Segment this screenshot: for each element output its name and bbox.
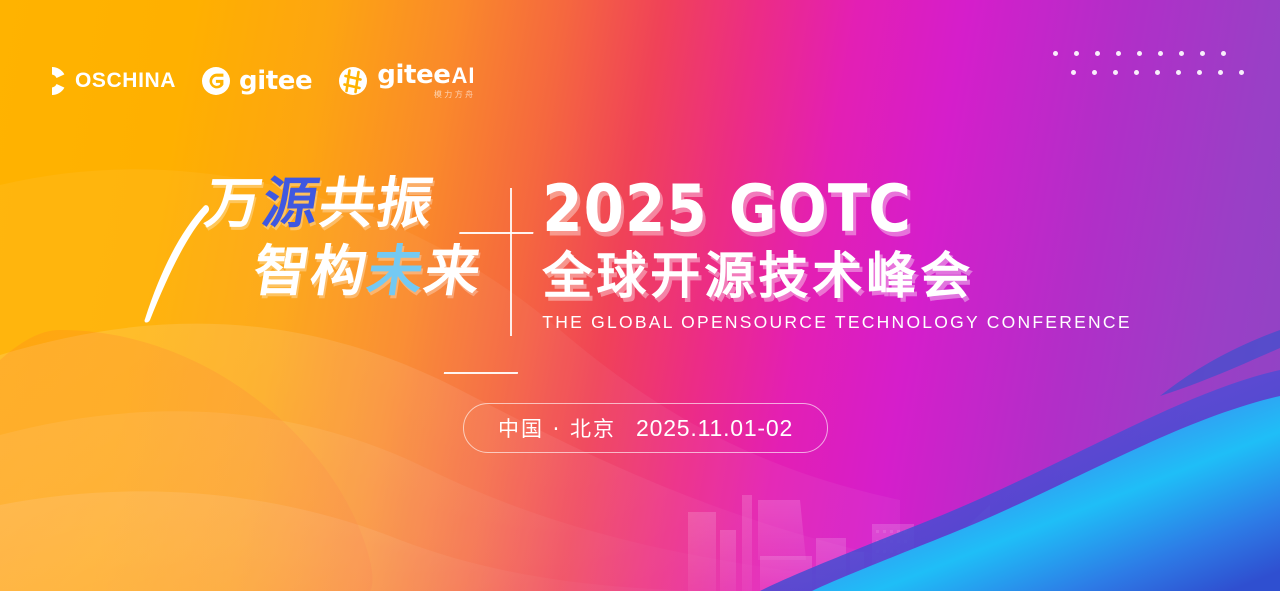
gitee-logo-text: gitee [239,68,312,94]
dot-grid-row [1053,48,1245,59]
slogan-underline-stroke [444,372,518,374]
gitee-ai-logo-text: gitee [377,62,450,88]
oschina-c-mark-icon [38,67,66,95]
event-date-location-badge: 中国 · 北京 2025.11.01-02 [463,403,828,453]
title-divider [510,188,512,336]
swoosh-decoration [142,204,212,324]
oschina-logo-text: OSCHINA [75,70,176,91]
dot-grid-row [1071,67,1245,78]
gitee-logo[interactable]: gitee [202,67,312,95]
conference-title-english: THE GLOBAL OPENSOURCE TECHNOLOGY CONFERE… [542,312,1131,333]
slogan-underline-stroke [459,232,533,234]
slogan-char-group: 来 [421,244,487,299]
slogan-line-1: 万 源 共振 [202,176,487,231]
oschina-logo[interactable]: OSCHINA [38,67,176,95]
main-title-lockup: 万 源 共振 智构 未 来 2025 GOTC 全球开源技术峰会 THE GLO… [0,176,1280,342]
slogan-char-group: 智构 [250,244,373,299]
partner-logo-row: OSCHINA gitee gitee [38,62,476,99]
gitee-ai-logo-textblock: gitee AI 模力方舟 [377,62,475,99]
gitee-g-mark-icon [202,67,230,95]
event-location: 中国 · 北京 [498,413,616,443]
slogan-char-group: 万 [202,176,268,231]
slogan-char-group: 共振 [316,176,439,231]
dot-grid-decoration [1053,48,1245,78]
slogan-char-group-highlight: 源 [259,176,325,231]
gitee-ai-globe-mark-icon [338,66,368,96]
slogan-line-2: 智构 未 来 [250,244,487,299]
gotc-2025-conference-banner: OSCHINA gitee gitee [0,0,1280,591]
conference-title-block: 2025 GOTC 全球开源技术峰会 THE GLOBAL OPENSOURCE… [542,176,1131,342]
gitee-ai-logo-subtitle: 模力方舟 [434,91,476,99]
gotc-title: 2025 GOTC [542,176,912,241]
slogan-char-group-highlight: 未 [364,244,430,299]
gitee-ai-logo[interactable]: gitee AI 模力方舟 [338,62,475,99]
event-date: 2025.11.01-02 [636,415,793,442]
conference-title-chinese: 全球开源技术峰会 [542,251,974,301]
gitee-ai-logo-suffix: AI [452,65,476,87]
chinese-slogan: 万 源 共振 智构 未 来 [148,176,510,342]
